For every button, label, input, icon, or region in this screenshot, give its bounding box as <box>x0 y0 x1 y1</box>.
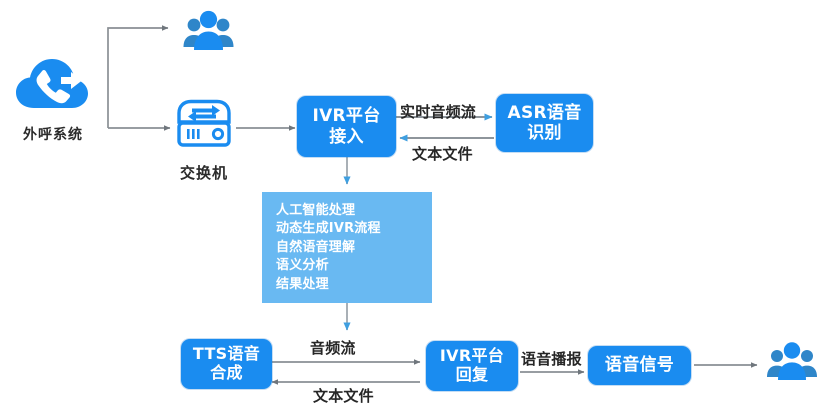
cloud-phone-icon-label: 外呼系统 <box>4 124 102 144</box>
wire-cloud-to-branch <box>108 28 170 128</box>
asr-line-1: ASR语音 <box>508 103 582 123</box>
ai-panel-line-1: 人工智能处理 <box>276 202 432 220</box>
tts-line-2: 合成 <box>210 364 243 383</box>
network-switch-icon <box>172 96 236 158</box>
ivr-reply-box[interactable]: IVR平台 回复 <box>426 341 518 391</box>
edge-label-realtime-audio: 实时音频流 <box>400 101 476 122</box>
edge-label-voice-broadcast: 语音播报 <box>521 348 582 369</box>
wire-tts-ivrreply <box>272 362 420 382</box>
diagram-canvas: 外呼系统 交换机 IVR平台 接入 ASR语音 识别 <box>0 0 840 420</box>
edge-label-text-file-top: 文本文件 <box>412 143 473 164</box>
ivr-access-box[interactable]: IVR平台 接入 <box>297 96 396 157</box>
people-group-icon <box>176 6 240 56</box>
asr-line-2: 识别 <box>527 123 562 143</box>
ai-processing-panel[interactable]: 人工智能处理 动态生成IVR流程 自然语音理解 语义分析 结果处理 <box>262 192 432 303</box>
ivr-reply-line-2: 回复 <box>456 366 489 385</box>
ivr-access-line-2: 接入 <box>329 127 364 147</box>
ivr-reply-line-1: IVR平台 <box>440 347 504 366</box>
ai-panel-line-5: 结果处理 <box>276 276 432 294</box>
edge-label-audio-stream: 音频流 <box>310 337 356 358</box>
ivr-access-line-1: IVR平台 <box>312 106 380 126</box>
tts-line-1: TTS语音 <box>193 345 260 364</box>
edge-label-text-file-bottom: 文本文件 <box>313 385 374 406</box>
asr-box[interactable]: ASR语音 识别 <box>496 94 593 152</box>
voice-signal-box[interactable]: 语音信号 <box>588 346 691 385</box>
voice-signal-line-1: 语音信号 <box>605 355 674 375</box>
network-switch-icon-label: 交换机 <box>158 162 250 183</box>
people-group-icon <box>762 338 822 386</box>
cloud-phone-icon <box>14 56 90 118</box>
tts-box[interactable]: TTS语音 合成 <box>181 339 272 389</box>
ai-panel-line-2: 动态生成IVR流程 <box>276 220 432 238</box>
ai-panel-line-3: 自然语音理解 <box>276 239 432 257</box>
ai-panel-line-4: 语义分析 <box>276 257 432 275</box>
